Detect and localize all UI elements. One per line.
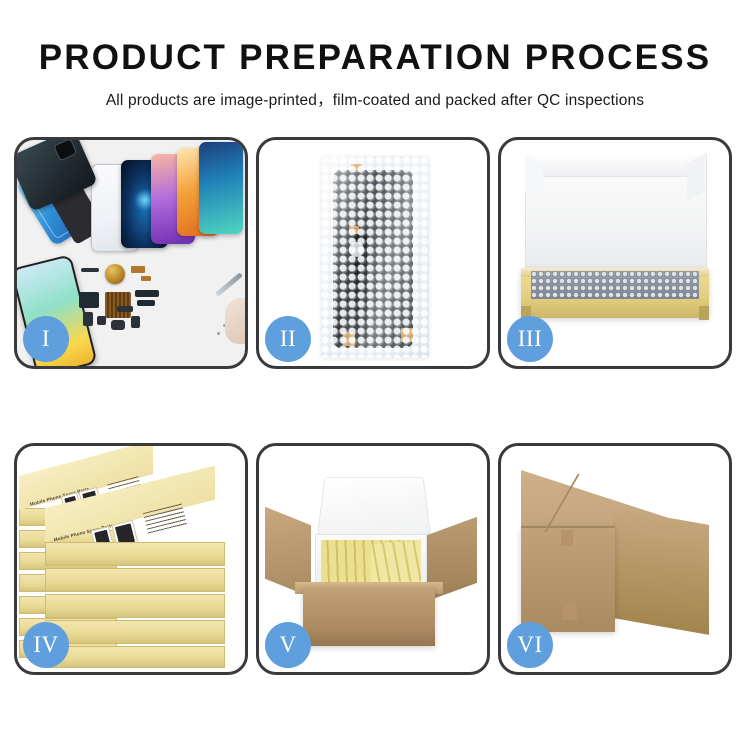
stacked-box [45,594,225,618]
step-badge-3: III [507,316,553,362]
carton-side-face [613,508,709,635]
step-numeral: I [42,326,50,352]
stacked-box [45,620,225,644]
small-part [81,268,99,272]
step-panel-4: Mobile Phone Spare Parts Mobile Phone Sp… [14,443,248,675]
sim-tray-part [83,312,93,326]
step-numeral: VI [517,632,542,658]
camera-module-part [111,320,125,330]
small-part [97,316,106,325]
step-badge-2: II [265,316,311,362]
flex-cable-part [79,292,99,308]
step-numeral: V [279,632,296,658]
box-right-edge [699,306,709,320]
phone-display-teal [199,142,243,234]
foam-lid [317,477,431,535]
lid-fold [525,154,705,177]
page-title: PRODUCT PREPARATION PROCESS [0,40,750,77]
page-subtitle: All products are image-printed，film-coat… [0,88,750,110]
carton-front-wall [303,588,435,646]
flex-cable-part [135,290,159,297]
stacked-box [45,646,225,668]
step-badge-5: V [265,622,311,668]
connector-part [141,276,151,281]
speaker-coil-part [105,264,125,284]
product-preparation-infographic: PRODUCT PREPARATION PROCESS All products… [0,0,750,750]
step-numeral: IV [33,632,58,658]
step-badge-6: VI [507,622,553,668]
stacked-box [45,568,225,592]
carton-tape-tab [563,602,577,620]
step-badge-4: IV [23,622,69,668]
header: PRODUCT PREPARATION PROCESS All products… [0,0,750,110]
step-panel-2: II [256,137,490,369]
small-part [117,306,133,312]
step-badge-1: I [23,316,69,362]
step-panel-5: V [256,443,490,675]
logic-board-part [105,292,131,318]
bubble-wrap-fill [531,271,699,299]
step-panel-6: VI [498,443,732,675]
step-panel-1: I [14,137,248,369]
technician-hand [225,298,245,344]
connector-part [131,266,145,273]
bubble-wrap-bag [321,156,429,358]
flex-cable-part [137,300,155,306]
plastic-sheen [321,156,429,358]
carton-seam [521,526,615,528]
stacked-box [45,542,225,566]
small-part [131,316,140,328]
process-steps-grid: I II [14,137,736,675]
packed-yellow-boxes-angled [371,539,421,586]
screw-part [217,332,220,335]
lid-left-flap [525,154,543,201]
carton-tape-tab [561,530,573,546]
step-numeral: III [518,326,542,352]
screwdriver-tool [215,272,243,296]
step-panel-3: III [498,137,732,369]
step-numeral: II [280,326,296,352]
